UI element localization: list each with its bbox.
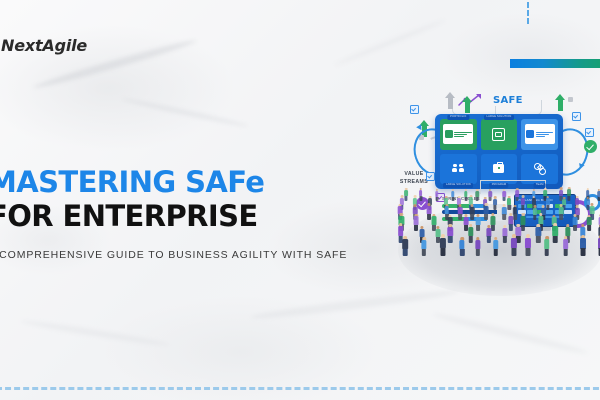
person-figure xyxy=(552,223,560,244)
dashed-corner-frame xyxy=(527,0,600,24)
cell-tag: LARGE SOLUTION xyxy=(484,115,514,120)
brand-logo: NextAgile xyxy=(0,36,87,55)
safe-illustration: SAFE VALUE STREAMS PORTFOLIO xyxy=(392,84,600,300)
person-figure xyxy=(401,236,409,257)
person-figure xyxy=(459,237,466,257)
cell-tag: LARGE SOLUTION xyxy=(443,183,473,188)
person-figure xyxy=(572,214,579,232)
brand-name: NextAgile xyxy=(1,36,87,55)
marble-vein xyxy=(20,318,169,347)
marble-vein xyxy=(121,97,249,129)
cell-tag: PORTFOLIO xyxy=(448,115,469,120)
person-figure xyxy=(418,188,424,202)
person-figure xyxy=(596,189,600,202)
person-figure xyxy=(475,214,482,232)
person-figure xyxy=(535,224,542,244)
person-figure xyxy=(492,237,499,257)
headline-block: MASTERING SAFe FOR ENTERPRISE A COMPREHE… xyxy=(0,166,328,261)
person-figure xyxy=(558,204,564,221)
poster-canvas: NextAgile MASTERING SAFe FOR ENTERPRISE … xyxy=(0,0,600,400)
person-figure xyxy=(474,237,481,257)
marble-vein xyxy=(333,18,446,68)
person-figure xyxy=(566,187,572,202)
gradient-accent-bar xyxy=(510,59,600,68)
person-figure xyxy=(510,234,518,257)
person-figure xyxy=(524,234,532,257)
person-figure xyxy=(492,196,498,211)
person-figure xyxy=(475,189,480,202)
person-figure xyxy=(447,224,454,244)
person-figure xyxy=(434,189,440,202)
dashed-bottom-rule xyxy=(0,387,600,390)
person-figure xyxy=(501,225,508,244)
person-figure xyxy=(520,195,526,211)
person-figure xyxy=(421,237,428,257)
title-line-2: FOR ENTERPRISE xyxy=(0,200,328,232)
person-figure xyxy=(579,235,587,257)
cell-tag: TEAM xyxy=(533,183,546,188)
person-figure xyxy=(586,215,593,232)
title-line-1: MASTERING SAFe xyxy=(0,166,328,198)
person-figure xyxy=(543,236,551,257)
person-figure xyxy=(507,213,514,232)
cell-tag: PROGRAM xyxy=(489,183,508,188)
subtitle: A COMPREHENSIVE GUIDE TO BUSINESS AGILIT… xyxy=(0,249,328,261)
person-figure xyxy=(450,189,455,202)
person-figure xyxy=(562,236,570,257)
marble-vein xyxy=(432,311,589,356)
person-figure xyxy=(439,234,447,257)
